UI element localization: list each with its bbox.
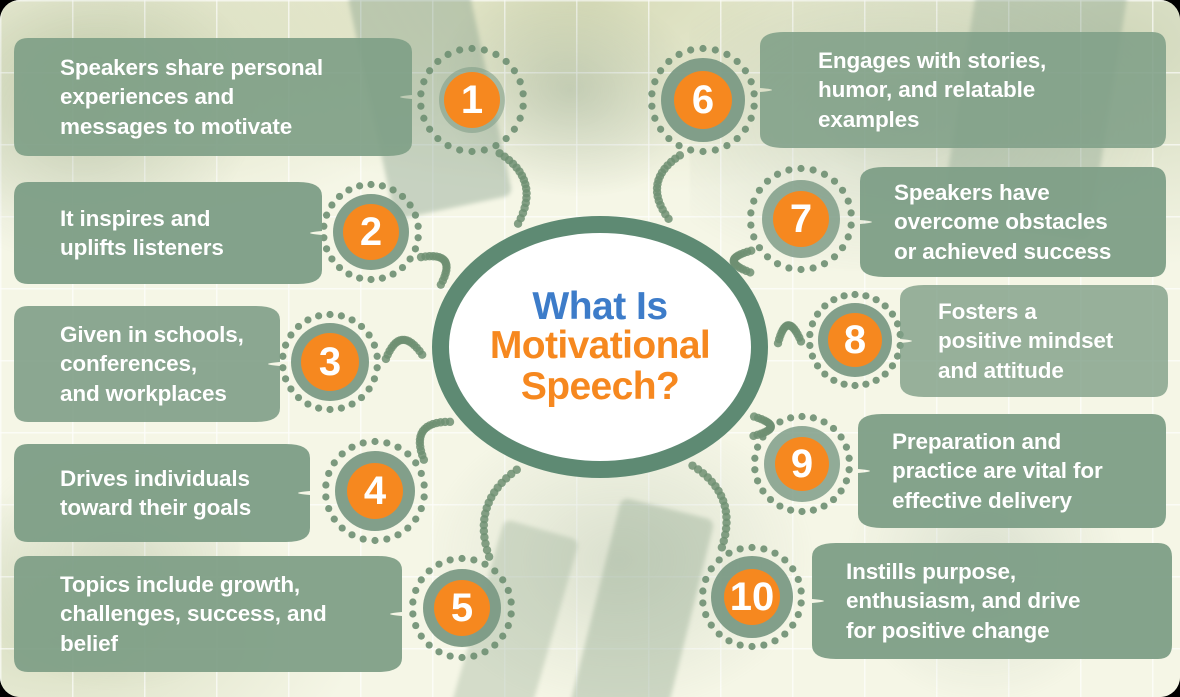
fact-badge-5: 5 — [408, 554, 516, 662]
fact-label-4: Drives individuals toward their goals — [14, 444, 310, 542]
fact-badge-8: 8 — [805, 290, 905, 390]
fact-badge-9: 9 — [750, 412, 854, 516]
fact-label-text-1: Speakers share personal experiences and … — [60, 53, 323, 141]
fact-label-text-2: It inspires and uplifts listeners — [60, 204, 224, 263]
fact-label-text-7: Speakers have overcome obstacles or achi… — [894, 178, 1111, 266]
fact-badge-1: 1 — [416, 44, 528, 156]
fact-label-9: Preparation and practice are vital for e… — [858, 414, 1166, 528]
badge-number-9: 9 — [775, 437, 829, 491]
fact-badge-3: 3 — [278, 310, 382, 414]
badge-number-3: 3 — [301, 333, 359, 391]
fact-label-text-10: Instills purpose, enthusiasm, and drive … — [846, 557, 1080, 645]
badge-number-2: 2 — [343, 204, 399, 260]
center-topic-oval: What Is Motivational Speech? — [432, 216, 768, 478]
fact-label-6: Engages with stories, humor, and relatab… — [760, 32, 1166, 148]
fact-label-10: Instills purpose, enthusiasm, and drive … — [812, 543, 1172, 659]
fact-badge-10: 10 — [698, 543, 806, 651]
badge-number-7: 7 — [773, 191, 829, 247]
fact-label-1: Speakers share personal experiences and … — [14, 38, 412, 156]
fact-label-text-4: Drives individuals toward their goals — [60, 464, 251, 523]
fact-label-5: Topics include growth, challenges, succe… — [14, 556, 402, 672]
fact-label-8: Fosters a positive mindset and attitude — [900, 285, 1168, 397]
fact-label-7: Speakers have overcome obstacles or achi… — [860, 167, 1166, 277]
center-title-line-2: Motivational — [490, 326, 710, 367]
badge-number-1: 1 — [444, 72, 500, 128]
fact-badge-6: 6 — [647, 44, 759, 156]
center-title-line-1: What Is — [532, 287, 667, 327]
fact-label-text-3: Given in schools, conferences, and workp… — [60, 320, 244, 408]
infographic-canvas: What Is Motivational Speech? Speakers sh… — [0, 0, 1180, 697]
badge-number-8: 8 — [828, 313, 882, 367]
fact-label-text-5: Topics include growth, challenges, succe… — [60, 570, 327, 658]
badge-number-10: 10 — [724, 569, 780, 625]
fact-label-text-9: Preparation and practice are vital for e… — [892, 427, 1103, 515]
fact-label-2: It inspires and uplifts listeners — [14, 182, 322, 284]
fact-label-text-6: Engages with stories, humor, and relatab… — [818, 46, 1046, 134]
badge-number-4: 4 — [347, 463, 403, 519]
badge-number-6: 6 — [674, 71, 732, 129]
fact-label-3: Given in schools, conferences, and workp… — [14, 306, 280, 422]
fact-label-text-8: Fosters a positive mindset and attitude — [938, 297, 1113, 385]
fact-badge-7: 7 — [746, 164, 856, 274]
fact-badge-2: 2 — [319, 180, 423, 284]
badge-number-5: 5 — [434, 580, 490, 636]
fact-badge-4: 4 — [321, 437, 429, 545]
center-title-line-3: Speech? — [521, 367, 679, 408]
